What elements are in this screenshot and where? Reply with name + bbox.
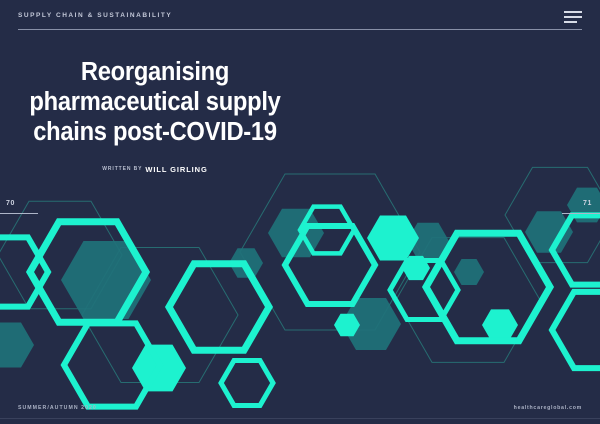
- hexagon-shape: [0, 201, 122, 308]
- hexagon-shape: [482, 309, 518, 340]
- footer-website-link[interactable]: healthcareglobal.com: [514, 405, 582, 411]
- footer-divider: [0, 418, 600, 419]
- hexagon-shape: [0, 237, 48, 306]
- hexagon-shape: [132, 345, 186, 392]
- muted-fill-hexagons: [0, 188, 600, 368]
- hexagon-shape: [64, 323, 160, 406]
- page-number-rule-left: [0, 213, 38, 214]
- hexagon-shape: [402, 256, 430, 280]
- menu-bar-top: [564, 11, 582, 13]
- hexagon-shape: [552, 292, 600, 368]
- page-number-left: 70: [6, 200, 15, 207]
- hexagon-shape: [396, 238, 540, 363]
- hero-block: Reorganising pharmaceutical supply chain…: [0, 58, 310, 178]
- hexagon-shape: [367, 215, 419, 260]
- header-divider: [18, 29, 582, 30]
- magazine-spread: SUPPLY CHAIN & SUSTAINABILITY Reorganisi…: [0, 0, 600, 424]
- hexagon-shape: [505, 167, 600, 262]
- hexagon-shape: [285, 226, 375, 304]
- hexagon-shape: [169, 264, 269, 351]
- hexagon-shape: [426, 233, 550, 340]
- hexagon-shape: [454, 259, 484, 285]
- menu-bar-bottom: [564, 21, 577, 23]
- hexagon-shape: [268, 209, 324, 258]
- hamburger-menu-icon[interactable]: [564, 9, 584, 25]
- thin-outline-hexagons: [0, 167, 600, 382]
- page-number-right: 71: [583, 200, 592, 207]
- byline-author: WILL GIRLING: [145, 165, 207, 174]
- solid-fill-hexagons: [132, 215, 518, 391]
- hexagon-shape: [341, 298, 401, 350]
- bright-outline-hexagons: [0, 207, 600, 407]
- hexagon-shape: [552, 215, 600, 284]
- article-byline: WRITTEN BYWILL GIRLING: [0, 160, 310, 178]
- hexagon-shape: [390, 261, 458, 320]
- byline-prefix: WRITTEN BY: [102, 166, 142, 172]
- hexagon-shape: [82, 247, 238, 382]
- hexagon-shape: [0, 322, 34, 367]
- hexagon-shape: [334, 314, 360, 337]
- section-kicker: SUPPLY CHAIN & SUSTAINABILITY: [18, 12, 172, 19]
- page-header: SUPPLY CHAIN & SUSTAINABILITY: [0, 0, 600, 40]
- hexagon-shape: [61, 241, 151, 319]
- hexagon-shape: [525, 211, 573, 253]
- menu-bar-middle: [564, 16, 582, 18]
- hexagon-shape: [407, 223, 449, 259]
- hexagon-shape: [240, 174, 420, 330]
- hexagon-shape: [300, 207, 354, 254]
- article-headline: Reorganising pharmaceutical supply chain…: [11, 58, 299, 147]
- page-number-rule-right: [562, 213, 600, 214]
- hexagon-shape: [229, 248, 263, 277]
- hexagon-shape: [221, 360, 273, 405]
- footer-issue-label: SUMMER/AUTUMN 2020: [18, 405, 97, 411]
- hexagon-shape: [30, 222, 146, 322]
